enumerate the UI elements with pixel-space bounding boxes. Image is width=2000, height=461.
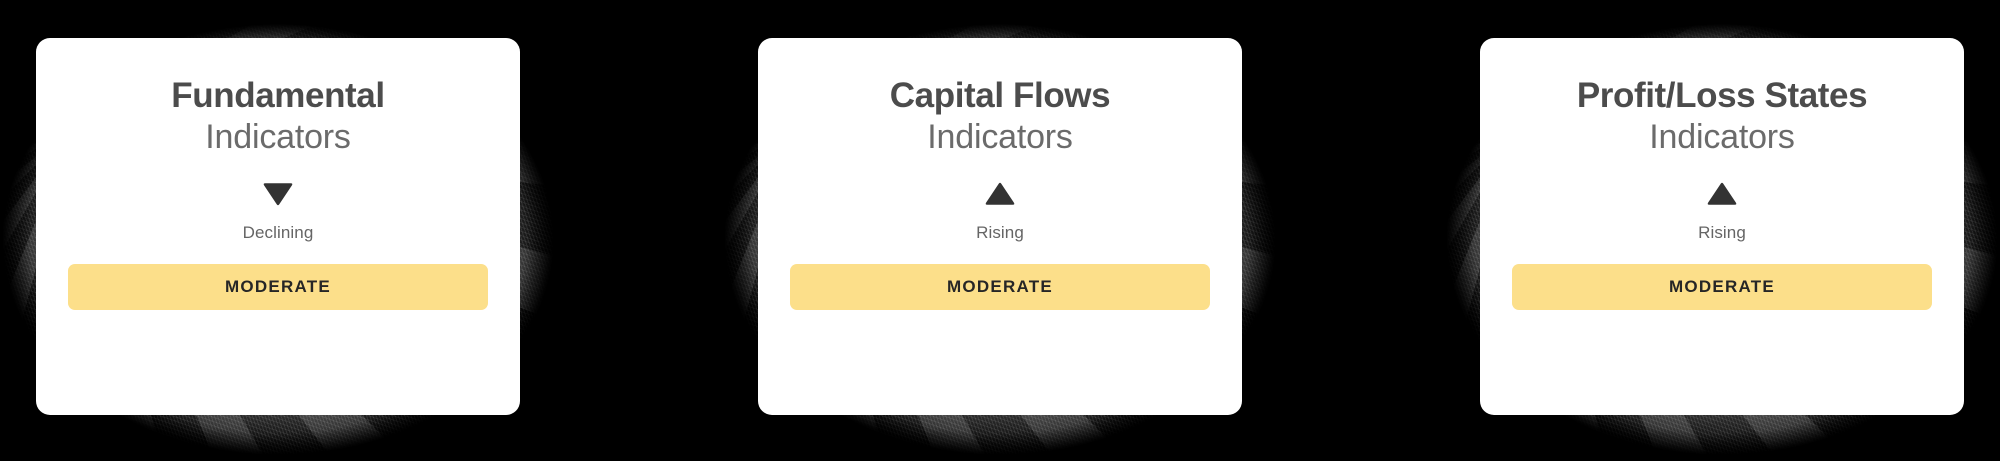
card-slot-fundamental: Fundamental Indicators Declining MODERAT… [36, 38, 520, 415]
triangle-up-icon [984, 179, 1016, 209]
card-slot-capital-flows: Capital Flows Indicators Rising MODERATE [758, 38, 1242, 415]
status-badge[interactable]: MODERATE [790, 264, 1210, 310]
trend-label: Declining [243, 223, 314, 243]
card-subtitle: Indicators [205, 117, 350, 157]
status-badge[interactable]: MODERATE [1512, 264, 1932, 310]
card-subtitle: Indicators [927, 117, 1072, 157]
indicator-card-profit-loss-states[interactable]: Profit/Loss States Indicators Rising MOD… [1480, 38, 1964, 415]
card-subtitle: Indicators [1649, 117, 1794, 157]
card-slot-profit-loss-states: Profit/Loss States Indicators Rising MOD… [1480, 38, 1964, 415]
indicator-card-grid: Fundamental Indicators Declining MODERAT… [0, 0, 2000, 461]
triangle-up-icon [1706, 179, 1738, 209]
card-title: Fundamental [171, 76, 384, 115]
indicator-card-fundamental[interactable]: Fundamental Indicators Declining MODERAT… [36, 38, 520, 415]
triangle-down-icon [262, 179, 294, 209]
status-badge[interactable]: MODERATE [68, 264, 488, 310]
indicator-card-capital-flows[interactable]: Capital Flows Indicators Rising MODERATE [758, 38, 1242, 415]
card-title: Profit/Loss States [1577, 76, 1867, 115]
trend-label: Rising [976, 223, 1024, 243]
trend-label: Rising [1698, 223, 1746, 243]
card-title: Capital Flows [890, 76, 1110, 115]
